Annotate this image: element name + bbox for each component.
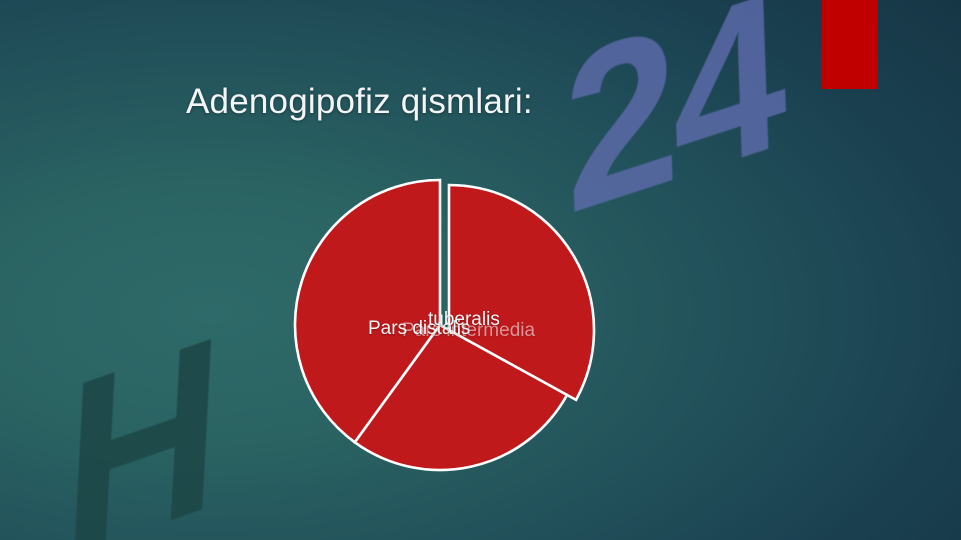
accent-bar: [822, 0, 878, 89]
presentation-slide: H 24 Adenogipofiz qismlari: Pars interme…: [0, 0, 961, 540]
pie-label-pars-tuberalis: tuberalis: [428, 309, 500, 331]
slide-title: Adenogipofiz qismlari:: [186, 80, 826, 124]
